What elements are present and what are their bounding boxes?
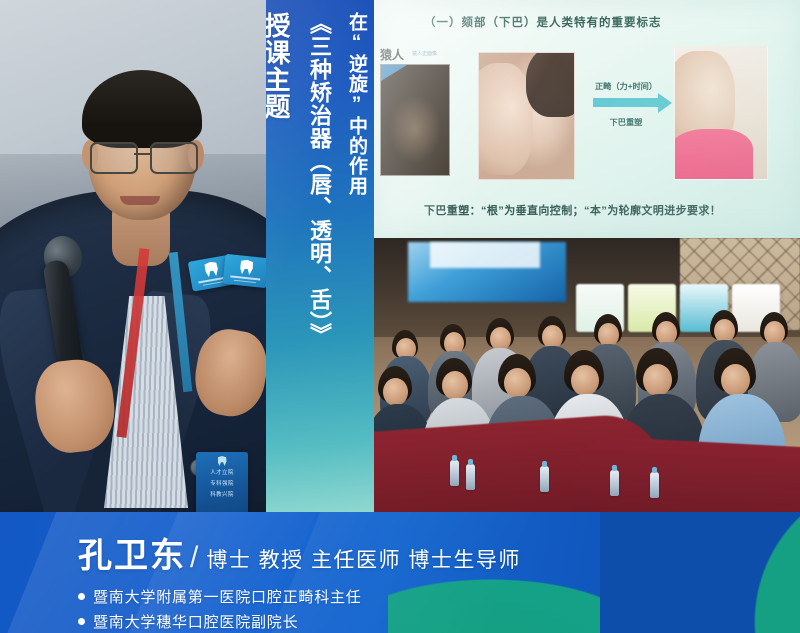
conference-speaker-poster: 人才立院 专科强院 科教兴院 授课主题 《三种矫治器（唇、透明、舌）》 在“逆旋…: [0, 0, 800, 633]
slide-image-profile-before: [478, 52, 575, 180]
hospital-logo-icon: [218, 456, 227, 466]
slide-footer-text: 下巴重塑：“根”为垂直向控制；“本”为轮廓文明进步要求！: [424, 202, 721, 218]
slide-title: （一）颏部（下巴）是人类特有的重要标志: [424, 14, 662, 30]
glasses-lens-left: [90, 142, 138, 174]
attendee-head: [571, 365, 599, 396]
glasses-lens-right: [150, 142, 198, 174]
bullet-dot-icon: [78, 618, 85, 625]
glasses-bridge: [134, 153, 152, 155]
speaker-info-banner: 孔卫东 / 博士 教授 主任医师 博士生导师 暨南大学附属第一医院口腔正畸科主任…: [0, 512, 800, 633]
speaker-name: 孔卫东: [78, 528, 186, 577]
vertical-title-wrapper: 授课主题 《三种矫治器（唇、透明、舌）》 在“逆旋”中的作用: [266, 12, 370, 504]
right-arrow-icon: [593, 98, 659, 107]
speaker-mouth: [120, 196, 160, 205]
lanyard-slogan-line-2: 专科强院: [210, 480, 234, 488]
lanyard-slogan-line-1: 人才立院: [210, 469, 234, 477]
water-bottle: [450, 460, 459, 486]
conference-badge-card-2: [223, 254, 266, 288]
speaker-affiliation-1: 暨南大学附属第一医院口腔正畸科主任: [93, 586, 362, 607]
speaker-photo: 人才立院 专科强院 科教兴院: [0, 0, 266, 512]
tooth-logo-icon: [204, 261, 219, 278]
glasses-icon: [88, 142, 198, 172]
slide-ape-note: 猿人正面像: [412, 50, 437, 57]
lecture-topic-line-1: 《三种矫治器（唇、透明、舌）》: [303, 12, 335, 346]
attendee-head: [721, 364, 750, 396]
speaker-credentials: 博士 教授 主任医师 博士生导师: [206, 544, 521, 574]
lecture-topic-panel: 授课主题 《三种矫治器（唇、透明、舌）》 在“逆旋”中的作用: [266, 0, 374, 512]
lecture-topic-heading: 授课主题: [266, 12, 295, 120]
water-bottle: [540, 466, 549, 492]
attendee-head: [504, 368, 531, 398]
badge-text-line: [234, 280, 256, 284]
slide-image-corner-accent: [381, 65, 407, 81]
speaker-name-row: 孔卫东 / 博士 教授 主任医师 博士生导师: [78, 528, 778, 577]
slide-image-profile-after: [674, 46, 768, 180]
attendee-head: [383, 378, 408, 406]
presentation-slide: （一）颏部（下巴）是人类特有的重要标志 猿人 猿人正面像 正畸（力+时间） 下巴…: [374, 0, 800, 238]
slide-arrow-group: 正畸（力+时间） 下巴重塑: [584, 80, 668, 128]
list-item: 暨南大学附属第一医院口腔正畸科主任: [78, 586, 778, 607]
audience-photo: [374, 238, 800, 512]
speaker-affiliation-2: 暨南大学穗华口腔医院副院长: [93, 611, 298, 632]
bullet-dot-icon: [78, 593, 85, 600]
speaker-affiliation-list: 暨南大学附属第一医院口腔正畸科主任 暨南大学穗华口腔医院副院长: [78, 586, 778, 632]
water-bottle: [650, 472, 659, 498]
water-bottle: [466, 464, 475, 490]
tooth-logo-icon: [239, 259, 253, 275]
lecture-topic-line-2: 在“逆旋”中的作用: [343, 12, 370, 196]
audience-table-front-right: [572, 435, 800, 512]
lanyard-name-tag: 人才立院 专科强院 科教兴院: [196, 452, 248, 512]
slide-ape-label: 猿人: [380, 46, 404, 63]
slide-arrow-caption-bottom: 下巴重塑: [584, 116, 668, 128]
banner-content: 孔卫东 / 博士 教授 主任医师 博士生导师 暨南大学附属第一医院口腔正畸科主任…: [78, 528, 778, 633]
lanyard-slogan-line-3: 科教兴院: [210, 491, 234, 499]
attendee-head: [442, 371, 468, 400]
attendee-head: [643, 364, 672, 396]
list-item: 暨南大学穗华口腔医院副院长: [78, 611, 778, 632]
audience-background-screen-content: [430, 242, 540, 268]
slide-arrow-caption-top: 正畸（力+时间）: [584, 80, 668, 92]
slide-image-ape-skull: [380, 64, 450, 176]
water-bottle: [610, 470, 619, 496]
name-separator: /: [190, 541, 198, 575]
